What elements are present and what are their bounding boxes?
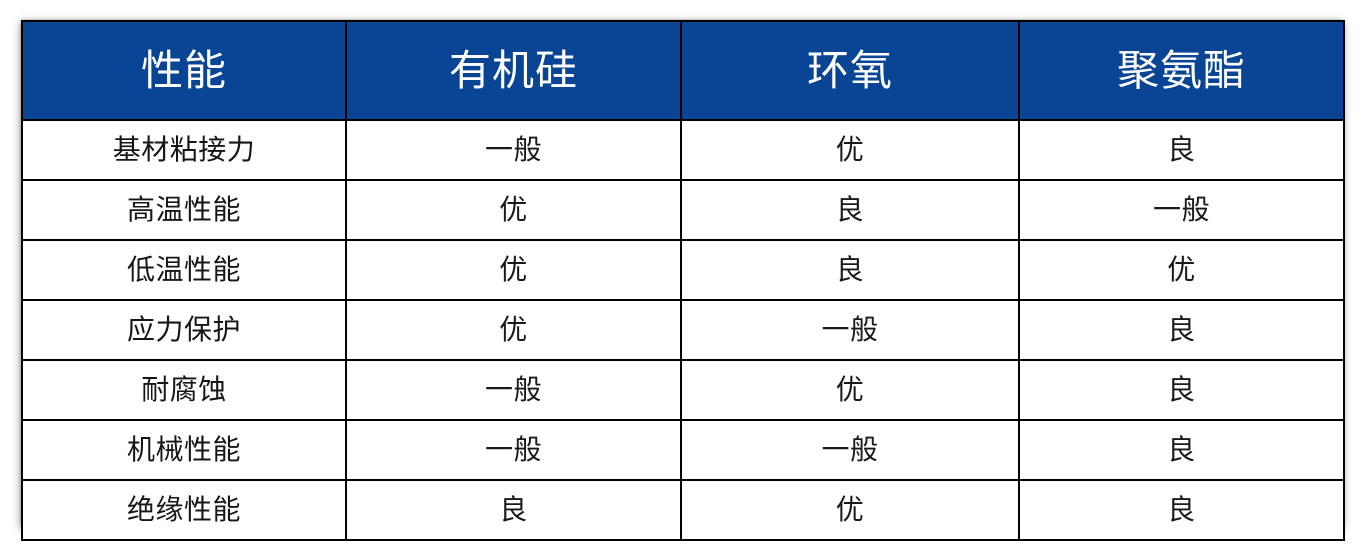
cell-epoxy: 良 — [681, 180, 1019, 240]
table-body: 基材粘接力 一般 优 良 高温性能 优 良 一般 低温性能 优 良 优 — [22, 120, 1344, 540]
cell-polyurethane: 良 — [1019, 420, 1344, 480]
table-row: 应力保护 优 一般 良 — [22, 300, 1344, 360]
table-row: 基材粘接力 一般 优 良 — [22, 120, 1344, 180]
header-row: 性能 有机硅 环氧 聚氨酯 — [22, 21, 1344, 120]
cell-property: 高温性能 — [22, 180, 346, 240]
cell-property: 耐腐蚀 — [22, 360, 346, 420]
cell-epoxy: 良 — [681, 240, 1019, 300]
cell-silicone: 良 — [346, 480, 681, 540]
cell-polyurethane: 良 — [1019, 120, 1344, 180]
cell-property: 机械性能 — [22, 420, 346, 480]
cell-polyurethane: 良 — [1019, 300, 1344, 360]
cell-epoxy: 优 — [681, 120, 1019, 180]
cell-epoxy: 优 — [681, 360, 1019, 420]
cell-silicone: 优 — [346, 240, 681, 300]
column-header-epoxy: 环氧 — [681, 21, 1019, 120]
table-row: 高温性能 优 良 一般 — [22, 180, 1344, 240]
cell-silicone: 一般 — [346, 120, 681, 180]
cell-polyurethane: 良 — [1019, 360, 1344, 420]
table-row: 低温性能 优 良 优 — [22, 240, 1344, 300]
cell-polyurethane: 优 — [1019, 240, 1344, 300]
cell-silicone: 一般 — [346, 420, 681, 480]
cell-epoxy: 优 — [681, 480, 1019, 540]
table-row: 绝缘性能 良 优 良 — [22, 480, 1344, 540]
column-header-property: 性能 — [22, 21, 346, 120]
cell-property: 基材粘接力 — [22, 120, 346, 180]
cell-property: 低温性能 — [22, 240, 346, 300]
cell-property: 绝缘性能 — [22, 480, 346, 540]
performance-comparison-table: 性能 有机硅 环氧 聚氨酯 基材粘接力 一般 优 良 高温性能 优 良 一般 — [21, 20, 1345, 541]
page-root: 性能 有机硅 环氧 聚氨酯 基材粘接力 一般 优 良 高温性能 优 良 一般 — [0, 0, 1363, 556]
comparison-table-container: 性能 有机硅 环氧 聚氨酯 基材粘接力 一般 优 良 高温性能 优 良 一般 — [21, 20, 1343, 526]
cell-polyurethane: 良 — [1019, 480, 1344, 540]
column-header-silicone: 有机硅 — [346, 21, 681, 120]
cell-property: 应力保护 — [22, 300, 346, 360]
cell-polyurethane: 一般 — [1019, 180, 1344, 240]
cell-silicone: 优 — [346, 300, 681, 360]
column-header-polyurethane: 聚氨酯 — [1019, 21, 1344, 120]
cell-silicone: 优 — [346, 180, 681, 240]
table-row: 机械性能 一般 一般 良 — [22, 420, 1344, 480]
cell-epoxy: 一般 — [681, 300, 1019, 360]
table-header: 性能 有机硅 环氧 聚氨酯 — [22, 21, 1344, 120]
cell-silicone: 一般 — [346, 360, 681, 420]
cell-epoxy: 一般 — [681, 420, 1019, 480]
table-row: 耐腐蚀 一般 优 良 — [22, 360, 1344, 420]
